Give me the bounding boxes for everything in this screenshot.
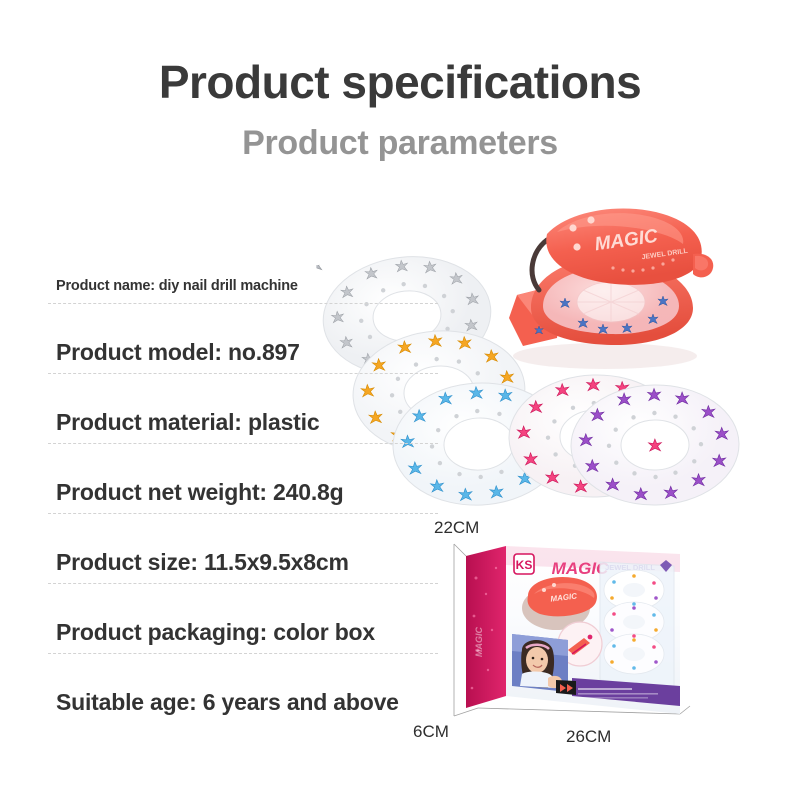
spec-row-product-packaging: Product packaging: color box bbox=[48, 598, 468, 668]
spec-text-product-packaging: Product packaging: color box bbox=[56, 619, 375, 646]
spec-row-product-material: Product material: plastic bbox=[48, 388, 468, 458]
page-subtitle: Product parameters bbox=[0, 126, 800, 162]
spec-row-product-size: Product size: 11.5x9.5x8cm bbox=[48, 528, 468, 598]
spec-text-product-net-weight: Product net weight: 240.8g bbox=[56, 479, 343, 506]
spec-divider bbox=[48, 303, 438, 304]
spec-text-product-size: Product size: 11.5x9.5x8cm bbox=[56, 549, 349, 576]
spec-text-product-name: Product name: diy nail drill machine bbox=[56, 278, 298, 294]
spec-divider bbox=[48, 653, 438, 654]
spec-divider bbox=[48, 443, 438, 444]
spec-list: Product name: diy nail drill machine Pro… bbox=[48, 248, 468, 738]
disc-purple bbox=[569, 383, 741, 508]
spec-divider bbox=[48, 513, 438, 514]
spec-text-suitable-age: Suitable age: 6 years and above bbox=[56, 689, 399, 716]
svg-text:MAGIC: MAGIC bbox=[474, 627, 484, 657]
spec-divider bbox=[48, 373, 438, 374]
spec-row-product-name: Product name: diy nail drill machine bbox=[48, 248, 468, 318]
svg-text:KS: KS bbox=[516, 558, 533, 572]
box-logo: KS bbox=[514, 554, 534, 574]
spec-divider bbox=[48, 583, 438, 584]
page-title: Product specifications bbox=[0, 58, 800, 106]
magic-jewel-drill-device: MAGIC JEWEL DRILL bbox=[487, 190, 717, 375]
dimension-label-bottom: 26CM bbox=[566, 727, 611, 747]
spec-row-product-model: Product model: no.897 bbox=[48, 318, 468, 388]
spec-text-product-model: Product model: no.897 bbox=[56, 339, 300, 366]
spec-row-suitable-age: Suitable age: 6 years and above bbox=[48, 668, 468, 738]
retail-color-box: MAGIC KS MAGIC JEWEL DRILL bbox=[452, 538, 692, 726]
spec-text-product-material: Product material: plastic bbox=[56, 409, 319, 436]
spec-row-product-net-weight: Product net weight: 240.8g bbox=[48, 458, 468, 528]
